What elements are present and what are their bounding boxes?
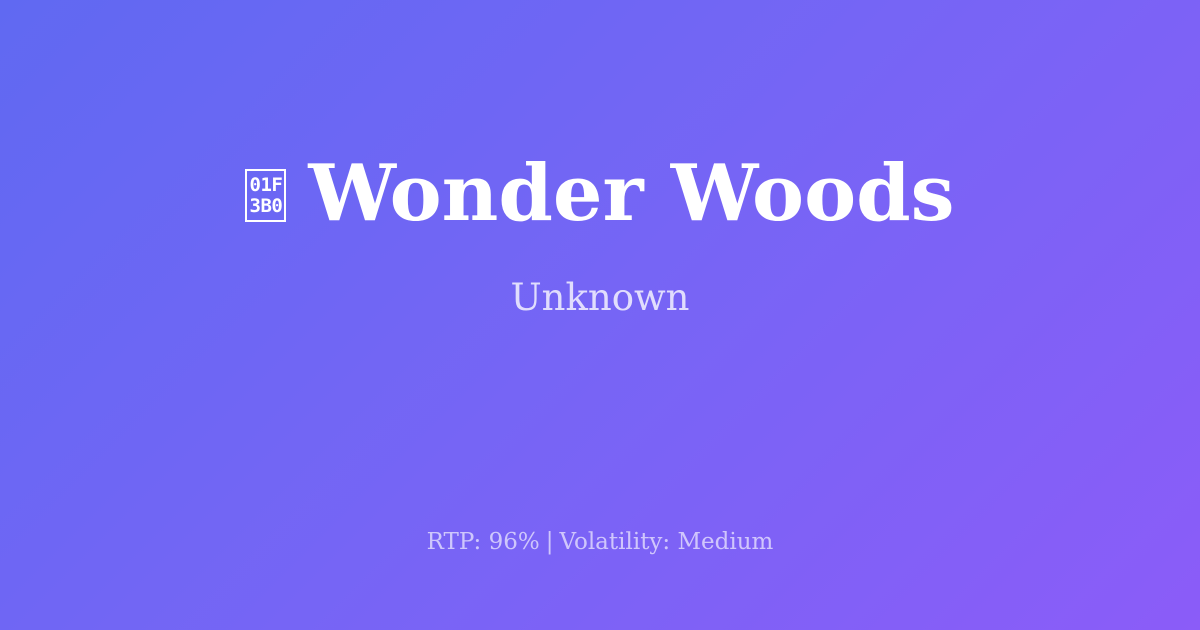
game-title-line: 01F 3B0 Wonder Woods [0,155,1200,233]
title-block: 01F 3B0 Wonder Woods Unknown [0,0,1200,470]
stats-separator: | [540,529,560,555]
slot-machine-icon: 01F 3B0 [245,169,286,222]
volatility-value: Volatility: Medium [559,529,773,555]
og-share-card: 01F 3B0 Wonder Woods Unknown RTP: 96%|Vo… [0,0,1200,630]
game-stats-line: RTP: 96%|Volatility: Medium [0,527,1200,557]
slot-machine-icon-codepoint-top: 01F [250,175,283,196]
slot-machine-icon-codepoint-bottom: 3B0 [250,196,283,217]
page-title: Wonder Woods [308,155,954,233]
rtp-value: RTP: 96% [427,529,540,555]
provider-label: Unknown [510,279,689,316]
